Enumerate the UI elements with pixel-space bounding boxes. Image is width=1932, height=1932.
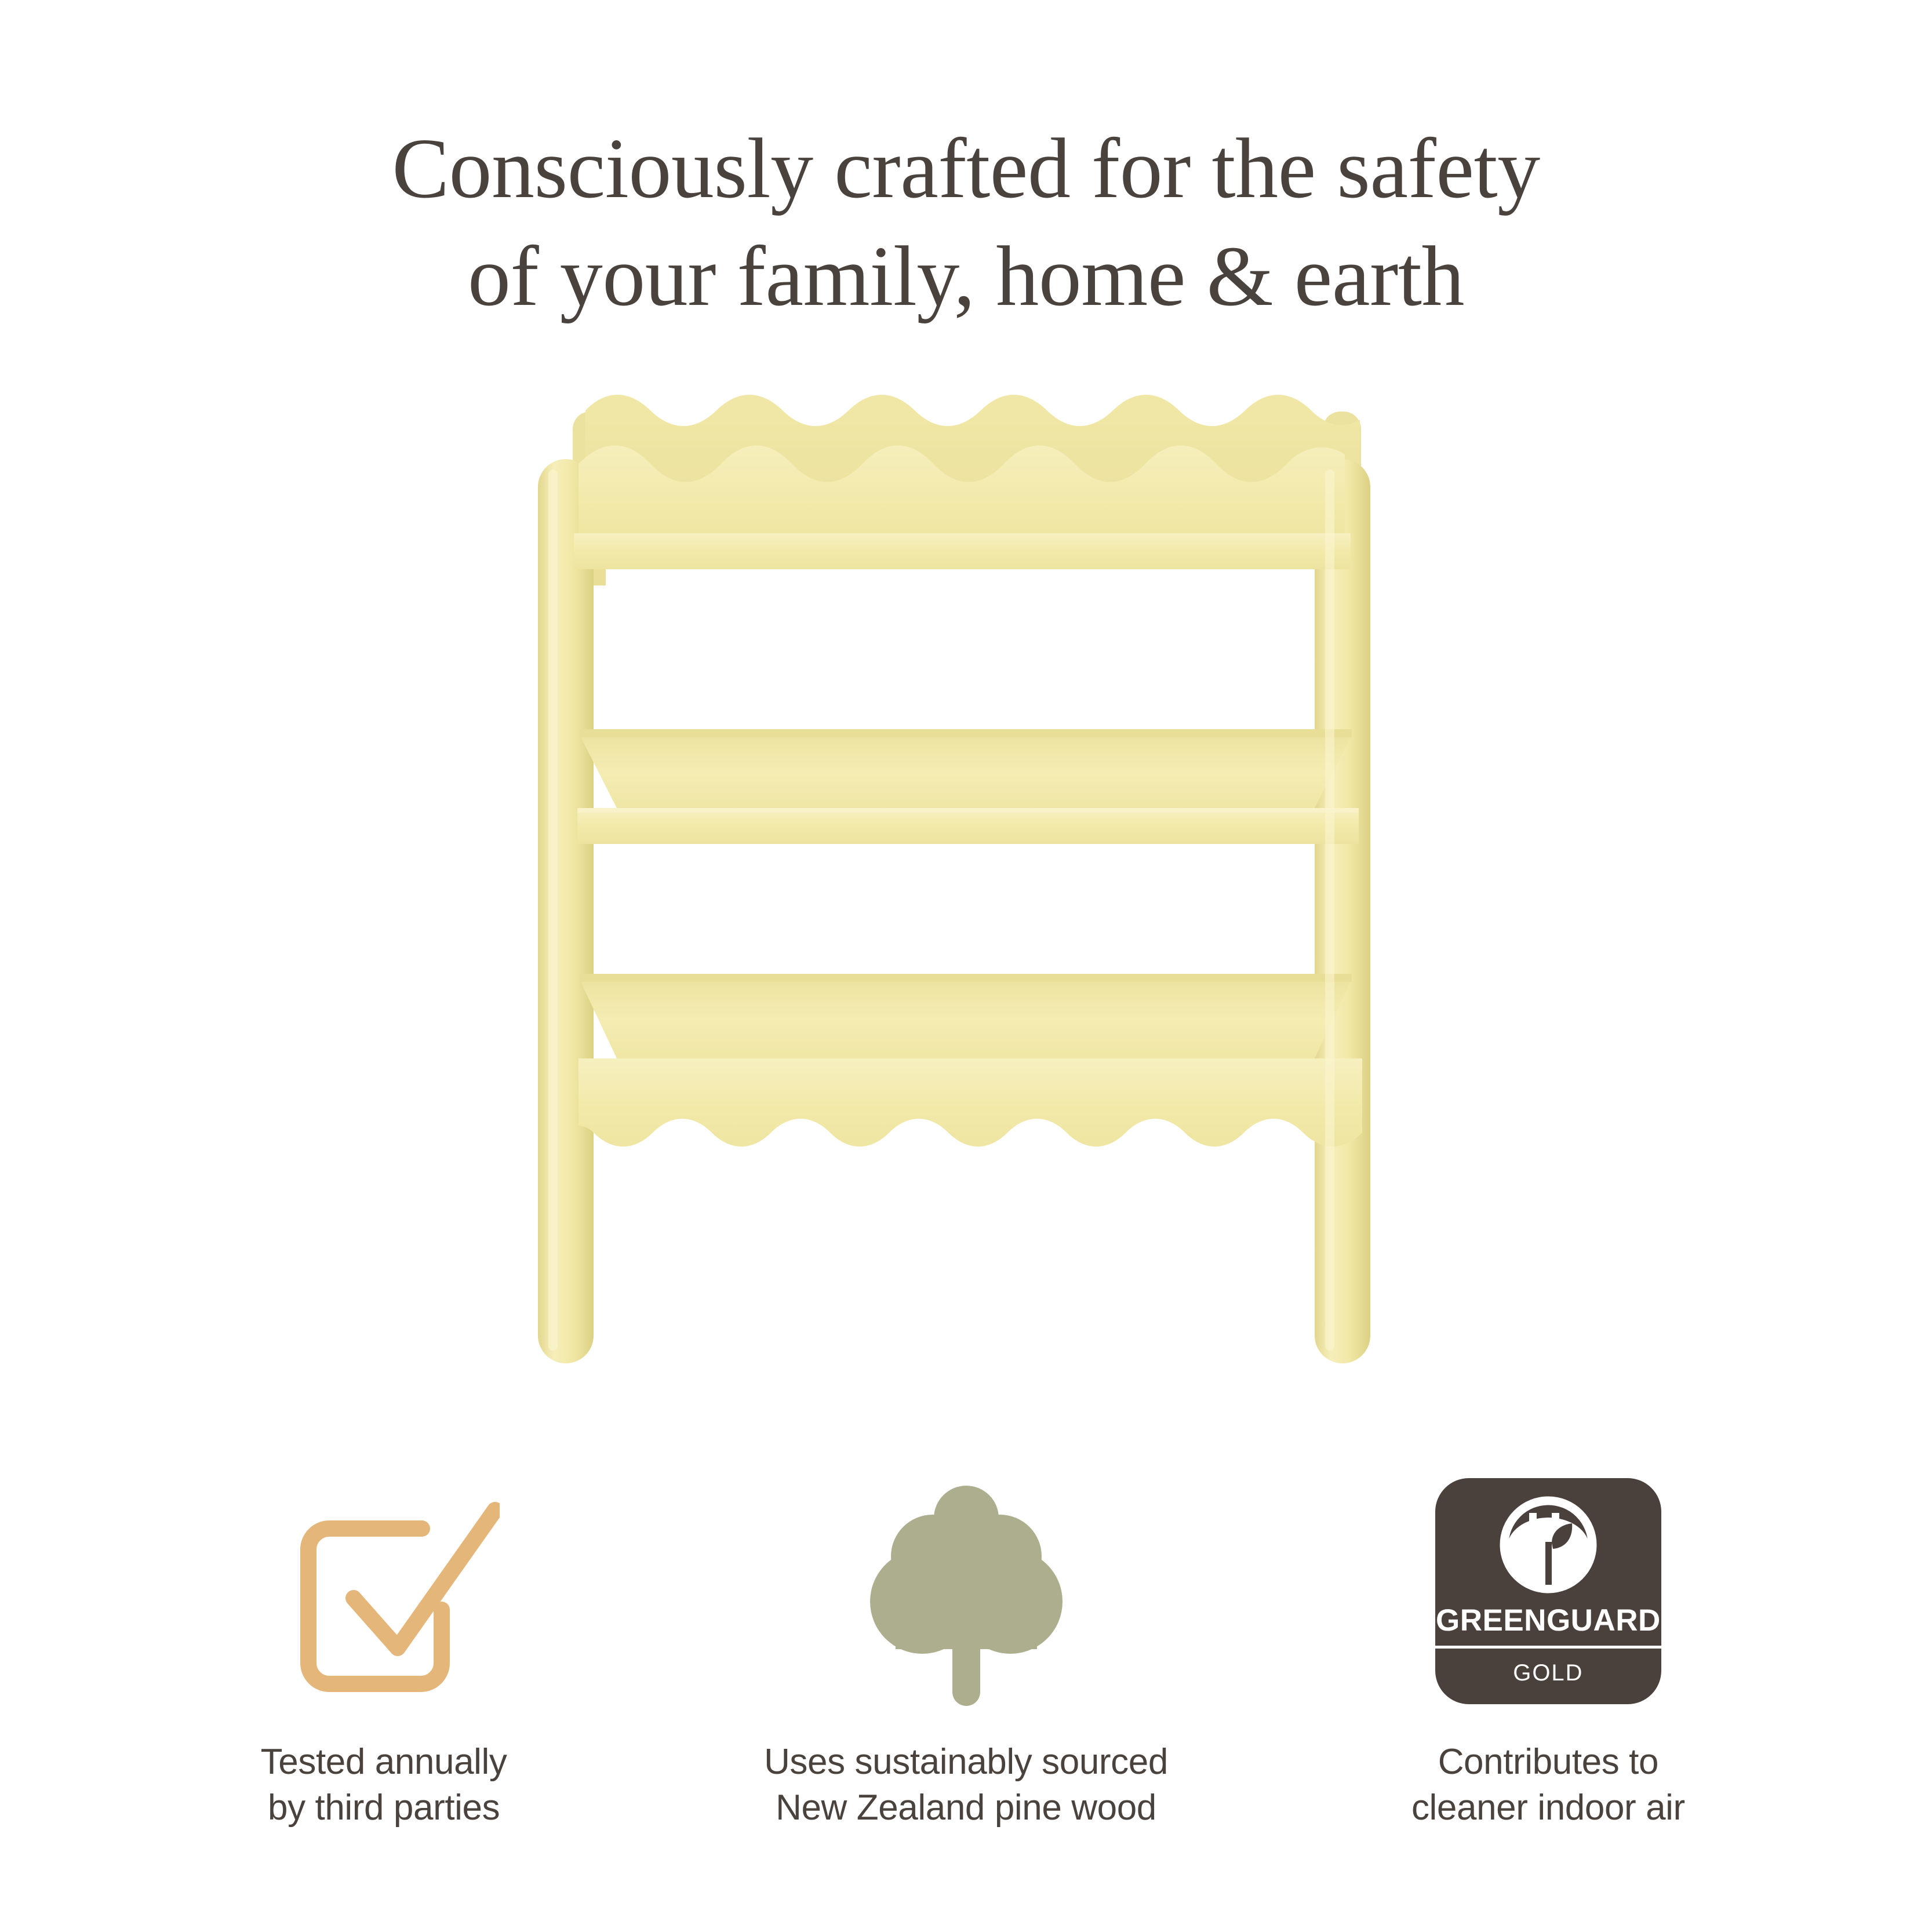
- tree-icon: [862, 1475, 1071, 1707]
- product-middle-shelf: [577, 729, 1359, 844]
- feature-caption: Contributes to cleaner indoor air: [1411, 1739, 1685, 1831]
- feature-row: Tested annually by third parties: [93, 1467, 1839, 1831]
- product-image-changing-table: [493, 394, 1449, 1414]
- feature-greenguard-gold: GREENGUARD GOLD Contributes to cleaner i…: [1257, 1467, 1839, 1831]
- product-bottom-shelf: [580, 974, 1352, 1061]
- feature-icon-slot: [862, 1467, 1071, 1716]
- product-top-rail-face: [574, 533, 1351, 569]
- feature-caption-line-2: by third parties: [261, 1785, 507, 1831]
- greenguard-level: GOLD: [1513, 1661, 1583, 1684]
- feature-icon-slot: [268, 1467, 500, 1716]
- ul-mark-icon: [1497, 1493, 1600, 1599]
- feature-caption-line-1: Tested annually: [261, 1739, 507, 1785]
- feature-caption-line-1: Uses sustainably sourced: [764, 1739, 1168, 1785]
- feature-caption-line-1: Contributes to: [1411, 1739, 1685, 1785]
- feature-icon-slot: GREENGUARD GOLD: [1435, 1467, 1661, 1716]
- product-bottom-apron: [574, 1055, 1368, 1159]
- badge-divider: [1435, 1646, 1661, 1649]
- greenguard-name: GREENGUARD: [1436, 1605, 1661, 1636]
- page-title: Consciously crafted for the safety of yo…: [0, 115, 1932, 331]
- feature-caption: Tested annually by third parties: [261, 1739, 507, 1831]
- promo-panel: Consciously crafted for the safety of yo…: [0, 0, 1932, 1932]
- feature-caption-line-2: New Zealand pine wood: [764, 1785, 1168, 1831]
- feature-sustainable-wood: Uses sustainably sourced New Zealand pin…: [675, 1467, 1257, 1831]
- feature-tested-annually: Tested annually by third parties: [93, 1467, 675, 1831]
- headline-line-1: Consciously crafted for the safety: [0, 115, 1932, 223]
- feature-caption: Uses sustainably sourced New Zealand pin…: [764, 1739, 1168, 1831]
- product-front-right-post: [1315, 459, 1370, 1363]
- checkbox-check-icon: [268, 1475, 500, 1707]
- greenguard-gold-badge-icon: GREENGUARD GOLD: [1435, 1478, 1661, 1704]
- product-front-left-post: [538, 459, 594, 1363]
- feature-caption-line-2: cleaner indoor air: [1411, 1785, 1685, 1831]
- headline-line-2: of your family, home & earth: [0, 223, 1932, 330]
